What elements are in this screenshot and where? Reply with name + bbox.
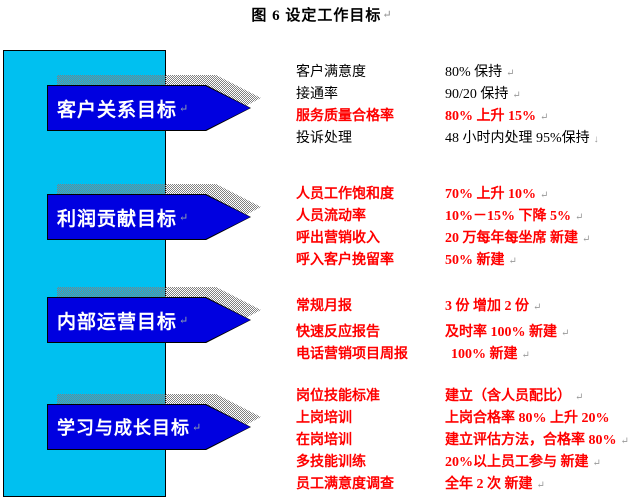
arrow-label-3: 学习与成长目标↵	[57, 404, 227, 450]
metric-value: 10%－15% 下降 5%↵	[445, 206, 583, 228]
metric-value-text: 20 万每年每坐席 新建	[445, 231, 578, 246]
metric-item: 上岗培训	[296, 408, 352, 429]
metric-item: 呼入客户挽留率	[296, 250, 394, 271]
metric-item: 接通率	[296, 84, 338, 105]
metric-value-text: 100% 新建	[451, 347, 518, 362]
metric-value: 70% 上升 10%↵	[445, 184, 548, 206]
metric-value-text: 50% 新建	[445, 253, 505, 268]
metric-item: 客户满意度	[296, 62, 366, 83]
metric-item: 服务质量合格率	[296, 106, 394, 127]
metric-value-text: 80% 保持	[445, 65, 502, 80]
paragraph-mark-icon: ↵	[192, 421, 202, 434]
paragraph-mark-icon: ↵	[533, 302, 541, 313]
arrow-label-text-1: 利润贡献目标	[57, 204, 177, 231]
metric-value-text: 全年 2 次 新建	[445, 477, 533, 492]
paragraph-mark-icon: ↵	[522, 350, 530, 361]
metric-item: 员工满意度调查	[296, 474, 394, 495]
paragraph-mark-icon: ↵	[582, 234, 590, 245]
paragraph-mark-icon: ↵	[179, 102, 189, 115]
metric-value-text: 10%－15% 下降 5%	[445, 209, 571, 224]
figure-title-text: 图 6 设定工作目标	[251, 8, 381, 24]
metric-value: 90/20 保持↵	[445, 84, 521, 106]
metric-item: 呼出营销收入	[296, 228, 380, 249]
arrow-label-text-2: 内部运营目标	[57, 307, 177, 334]
metric-item: 人员工作饱和度	[296, 184, 394, 205]
metric-value: 80% 保持↵	[445, 62, 515, 84]
metric-value: 20%以上员工参与 新建↵	[445, 452, 601, 474]
arrow-banner-3[interactable]: 学习与成长目标↵	[47, 404, 251, 450]
arrow-banner-0[interactable]: 客户关系目标↵	[47, 85, 251, 131]
arrow-label-2: 内部运营目标↵	[57, 297, 227, 343]
arrow-label-text-0: 客户关系目标	[57, 95, 177, 122]
metric-value: 20 万每年每坐席 新建↵	[445, 228, 590, 250]
paragraph-mark-icon: ↵	[593, 458, 601, 469]
paragraph-mark-icon: ↵	[382, 9, 392, 21]
metric-value-text: 及时率 100% 新建	[445, 325, 557, 340]
paragraph-mark-icon: ↵	[540, 190, 548, 201]
paragraph-mark-icon: ↵	[540, 112, 548, 123]
metric-value: 上岗合格率 80% 上升 20%	[445, 408, 614, 430]
metric-value-text: 上岗合格率 80% 上升 20%	[445, 411, 610, 426]
metric-value: 3 份 增加 2 份↵	[445, 296, 541, 318]
arrow-label-text-3: 学习与成长目标	[57, 414, 190, 440]
metric-value: 及时率 100% 新建↵	[445, 322, 569, 344]
metric-item: 投诉处理	[296, 128, 352, 149]
metric-value-text: 90/20 保持	[445, 87, 508, 102]
paragraph-mark-icon: ↵	[179, 211, 189, 224]
arrow-banner-1[interactable]: 利润贡献目标↵	[47, 194, 251, 240]
metric-value: 80% 上升 15%↵	[445, 106, 548, 128]
metric-value: 48 小时内处理 95%保持↓	[445, 128, 599, 150]
metric-value: 全年 2 次 新建↵	[445, 474, 545, 496]
paragraph-mark-icon: ↵	[179, 314, 189, 327]
figure-title: 图 6 设定工作目标↵	[0, 4, 644, 25]
metric-value-text: 20%以上员工参与 新建	[445, 455, 589, 470]
metric-item: 常规月报	[296, 296, 352, 317]
paragraph-mark-icon: ↵	[575, 212, 583, 223]
paragraph-mark-icon: ↵	[537, 480, 545, 491]
metric-item: 快速反应报告	[296, 322, 380, 343]
paragraph-mark-icon: ↵	[575, 392, 583, 403]
metric-value: 50% 新建↵	[445, 250, 517, 272]
metric-value: 建立（含人员配比）↵	[445, 386, 583, 408]
arrow-label-0: 客户关系目标↵	[57, 85, 227, 131]
metric-item: 多技能训练	[296, 452, 366, 473]
metric-item: 在岗培训	[296, 430, 352, 451]
metric-value-text: 70% 上升 10%	[445, 187, 536, 202]
metric-value-text: 建立评估方法，合格率 80%	[445, 433, 617, 448]
down-arrow-icon: ↓	[594, 134, 599, 145]
paragraph-mark-icon: ↵	[512, 90, 520, 101]
metric-value-text: 建立（含人员配比）	[445, 389, 571, 404]
paragraph-mark-icon: ↵	[506, 68, 514, 79]
arrow-banner-2[interactable]: 内部运营目标↵	[47, 297, 251, 343]
metric-item: 岗位技能标准	[296, 386, 380, 407]
metric-value-text: 3 份 增加 2 份	[445, 299, 529, 314]
paragraph-mark-icon: ↵	[509, 256, 517, 267]
metric-value: 建立评估方法，合格率 80%↵	[445, 430, 629, 452]
metric-item: 人员流动率	[296, 206, 366, 227]
metric-value: 100% 新建↵	[451, 344, 530, 366]
metric-item: 电话营销项目周报	[296, 344, 408, 365]
arrow-label-1: 利润贡献目标↵	[57, 194, 227, 240]
paragraph-mark-icon: ↵	[621, 436, 629, 447]
metric-value-text: 48 小时内处理 95%保持	[445, 131, 590, 146]
metric-value-text: 80% 上升 15%	[445, 109, 536, 124]
paragraph-mark-icon: ↵	[561, 328, 569, 339]
